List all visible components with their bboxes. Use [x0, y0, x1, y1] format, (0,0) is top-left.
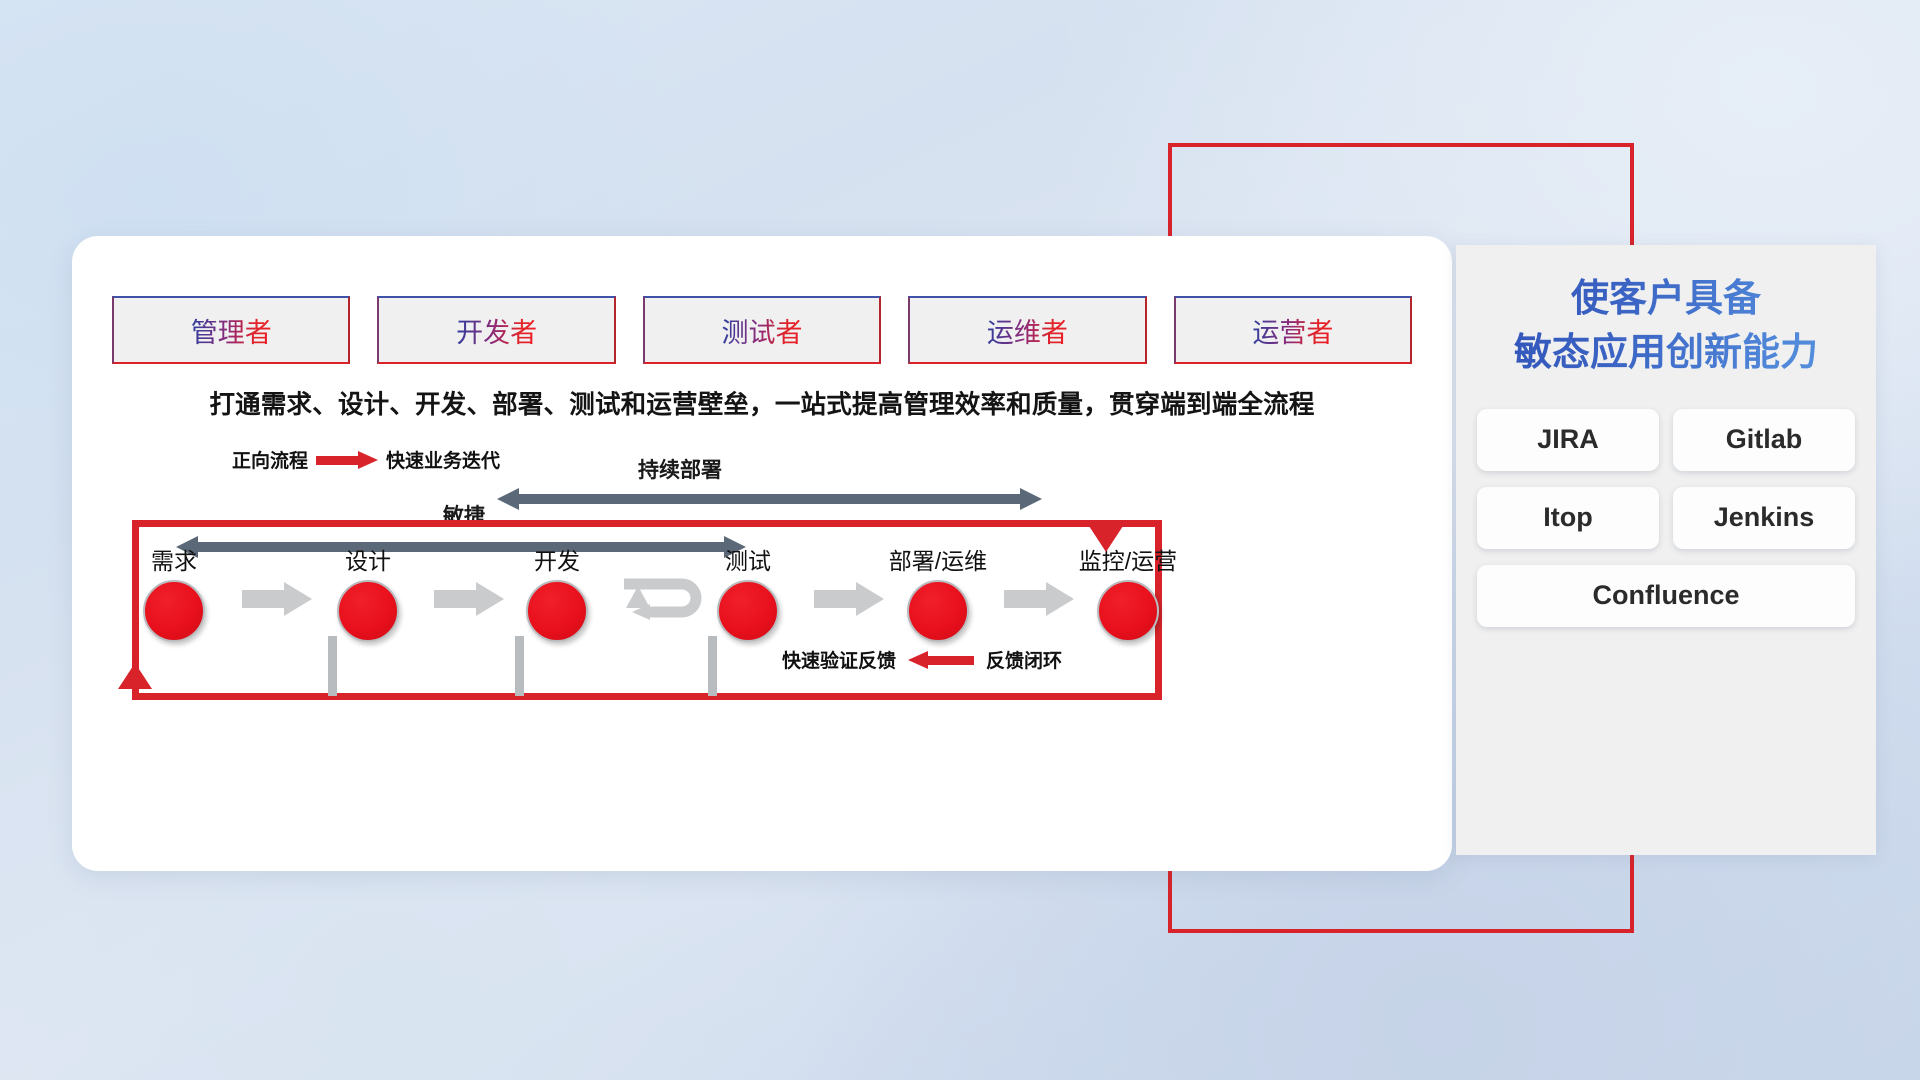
stage-label: 需求 [94, 542, 254, 576]
chevron-right-icon [814, 582, 884, 616]
panel-title-line1: 使客户具备 [1456, 273, 1876, 327]
chevron-right-icon [1004, 582, 1074, 616]
stage-label: 设计 [288, 542, 448, 576]
role-box-manager[interactable]: 管理者 [112, 296, 350, 364]
role-label: 运营者 [1252, 311, 1333, 350]
role-box-developer[interactable]: 开发者 [377, 296, 615, 364]
tool-chip-jira[interactable]: JIRA [1477, 409, 1659, 471]
role-label: 管理者 [191, 311, 272, 350]
forward-flow-result-label: 快速业务迭代 [386, 446, 500, 473]
stage-design[interactable]: 设计 [288, 542, 448, 642]
devops-card: 管理者 开发者 测试者 运维者 运营者 打通需求、设计、开发、部署、测试和运营壁… [72, 236, 1452, 871]
tool-chip-itop[interactable]: Itop [1477, 487, 1659, 549]
stage-dot-icon [143, 580, 205, 642]
red-left-arrow-icon [908, 651, 974, 669]
stage-dot-icon [717, 580, 779, 642]
stage-label: 测试 [668, 542, 828, 576]
forward-flow-annotation: 正向流程 快速业务迭代 [232, 446, 500, 473]
headline-text: 打通需求、设计、开发、部署、测试和运营壁垒，一站式提高管理效率和质量，贯穿端到端… [112, 384, 1412, 421]
stage-dot-icon [907, 580, 969, 642]
role-box-operations-maintainer[interactable]: 运维者 [908, 296, 1146, 364]
role-label: 测试者 [722, 311, 803, 350]
role-box-operator[interactable]: 运营者 [1174, 296, 1412, 364]
role-label: 运维者 [987, 311, 1068, 350]
chevron-right-icon [434, 582, 504, 616]
stage-dot-icon [526, 580, 588, 642]
panel-title-line2: 敏态应用创新能力 [1456, 327, 1876, 381]
role-box-tester[interactable]: 测试者 [643, 296, 881, 364]
chevron-right-icon [242, 582, 312, 616]
pipeline-stages: 需求 设计 开发 测试 部署/运 [112, 506, 1412, 656]
loop-down-arrow-icon [1089, 526, 1123, 552]
stage-dot-icon [337, 580, 399, 642]
loop-up-arrow-icon [118, 663, 152, 689]
tool-chip-gitlab[interactable]: Gitlab [1673, 409, 1855, 471]
value-panel: 使客户具备 敏态应用创新能力 JIRA Gitlab Itop Jenkins … [1456, 245, 1876, 855]
role-label: 开发者 [456, 311, 537, 350]
feedback-result-label: 快速验证反馈 [782, 646, 896, 673]
stage-dot-icon [1097, 580, 1159, 642]
tool-chip-jenkins[interactable]: Jenkins [1673, 487, 1855, 549]
stage-label: 监控/运营 [1048, 542, 1208, 576]
tool-chip-confluence[interactable]: Confluence [1477, 565, 1855, 627]
panel-title: 使客户具备 敏态应用创新能力 [1456, 273, 1876, 381]
feedback-loop-label: 反馈闭环 [986, 646, 1062, 673]
stage-requirement[interactable]: 需求 [94, 542, 254, 642]
stage-label: 部署/运维 [858, 542, 1018, 576]
role-boxes-row: 管理者 开发者 测试者 运维者 运营者 [112, 296, 1412, 364]
stage-label: 开发 [477, 542, 637, 576]
red-right-arrow-icon [316, 451, 378, 469]
continuous-deployment-label: 持续部署 [638, 454, 722, 484]
feedback-annotation: 快速验证反馈 反馈闭环 [782, 646, 1062, 673]
tool-chip-list: JIRA Gitlab Itop Jenkins Confluence [1456, 409, 1876, 627]
loop-back-icon [620, 572, 716, 622]
forward-flow-label: 正向流程 [232, 446, 308, 473]
